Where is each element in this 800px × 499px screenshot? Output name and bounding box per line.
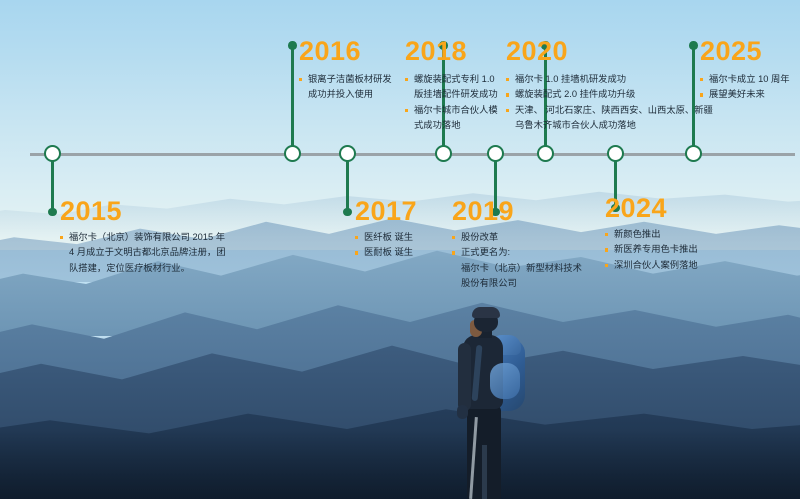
list-item: 深圳合伙人案例落地: [605, 258, 698, 272]
milestone-items: 医纤板 诞生 医耐板 诞生: [355, 230, 417, 260]
milestone-items: 新颜色推出 新医养专用色卡推出 深圳合伙人案例落地: [605, 227, 698, 272]
milestone-year: 2017: [355, 198, 417, 225]
milestone-2020[interactable]: 2020 福尔卡 1.0 挂墙机研发成功 螺旋装配式 2.0 挂件成功升级 天津…: [506, 38, 713, 134]
list-item: 乌鲁木齐城市合伙人成功落地: [506, 118, 713, 132]
timeline-node-2018[interactable]: [435, 145, 452, 162]
timeline-node-2025[interactable]: [685, 145, 702, 162]
timeline-stem-2017: [346, 160, 349, 212]
timeline-node-2017[interactable]: [339, 145, 356, 162]
list-item: 新医养专用色卡推出: [605, 242, 698, 256]
milestone-2015[interactable]: 2015 福尔卡（北京）装饰有限公司 2015 年 4 月成立于文明古都北京品牌…: [60, 198, 226, 276]
milestone-2024[interactable]: 2024 新颜色推出 新医养专用色卡推出 深圳合伙人案例落地: [605, 195, 698, 273]
milestone-year: 2025: [700, 38, 790, 65]
list-item: 福尔卡成立 10 周年: [700, 72, 790, 86]
milestone-items: 股份改革 正式更名为: 福尔卡（北京）新型材料技术 股份有限公司: [452, 230, 582, 291]
list-item: 式成功落地: [405, 118, 498, 132]
list-item: 正式更名为:: [452, 245, 582, 259]
list-item: 螺旋装配式 2.0 挂件成功升级: [506, 87, 713, 101]
list-item: 银离子洁菌板材研发: [299, 72, 392, 86]
milestone-year: 2018: [405, 38, 498, 65]
milestone-2025[interactable]: 2025 福尔卡成立 10 周年 展望美好未来: [700, 38, 790, 103]
list-item: 医纤板 诞生: [355, 230, 417, 244]
timeline: 2016 银离子洁菌板材研发 成功并投入使用 2018 螺旋装配式专利 1.0 …: [0, 0, 800, 499]
milestone-items: 福尔卡（北京）装饰有限公司 2015 年 4 月成立于文明古都北京品牌注册，团 …: [60, 230, 226, 275]
timeline-node-2015[interactable]: [44, 145, 61, 162]
timeline-node-2020[interactable]: [537, 145, 554, 162]
timeline-stem-2015: [51, 160, 54, 212]
milestone-year: 2024: [605, 195, 698, 222]
milestone-2019[interactable]: 2019 股份改革 正式更名为: 福尔卡（北京）新型材料技术 股份有限公司: [452, 198, 582, 292]
milestone-items: 福尔卡 1.0 挂墙机研发成功 螺旋装配式 2.0 挂件成功升级 天津、 河北石…: [506, 72, 713, 133]
milestone-year: 2015: [60, 198, 226, 225]
list-item: 新颜色推出: [605, 227, 698, 241]
milestone-items: 螺旋装配式专利 1.0 版挂墙配件研发成功 福尔卡城市合伙人模 式成功落地: [405, 72, 498, 133]
milestone-2017[interactable]: 2017 医纤板 诞生 医耐板 诞生: [355, 198, 417, 261]
milestone-year: 2019: [452, 198, 582, 225]
list-item: 天津、 河北石家庄、陕西西安、山西太原、新疆: [506, 103, 713, 117]
milestone-year: 2020: [506, 38, 713, 65]
milestone-year: 2016: [299, 38, 392, 65]
timeline-node-2024[interactable]: [607, 145, 624, 162]
list-item: 医耐板 诞生: [355, 245, 417, 259]
milestone-items: 银离子洁菌板材研发 成功并投入使用: [299, 72, 392, 102]
list-item: 福尔卡 1.0 挂墙机研发成功: [506, 72, 713, 86]
timeline-axis: [30, 153, 795, 156]
list-item: 螺旋装配式专利 1.0: [405, 72, 498, 86]
list-item: 股份改革: [452, 230, 582, 244]
milestone-2016[interactable]: 2016 银离子洁菌板材研发 成功并投入使用: [299, 38, 392, 103]
list-item: 福尔卡城市合伙人模: [405, 103, 498, 117]
timeline-stem-2016: [291, 45, 294, 147]
list-item: 福尔卡（北京）装饰有限公司 2015 年: [60, 230, 226, 244]
list-item: 4 月成立于文明古都北京品牌注册，团: [60, 245, 226, 259]
list-item: 股份有限公司: [452, 276, 582, 290]
list-item: 版挂墙配件研发成功: [405, 87, 498, 101]
timeline-node-2016[interactable]: [284, 145, 301, 162]
milestone-items: 福尔卡成立 10 周年 展望美好未来: [700, 72, 790, 102]
timeline-node-2019[interactable]: [487, 145, 504, 162]
list-item: 福尔卡（北京）新型材料技术: [452, 261, 582, 275]
list-item: 成功并投入使用: [299, 87, 392, 101]
list-item: 队搭建，定位医疗板材行业。: [60, 261, 226, 275]
milestone-2018[interactable]: 2018 螺旋装配式专利 1.0 版挂墙配件研发成功 福尔卡城市合伙人模 式成功…: [405, 38, 498, 134]
list-item: 展望美好未来: [700, 87, 790, 101]
